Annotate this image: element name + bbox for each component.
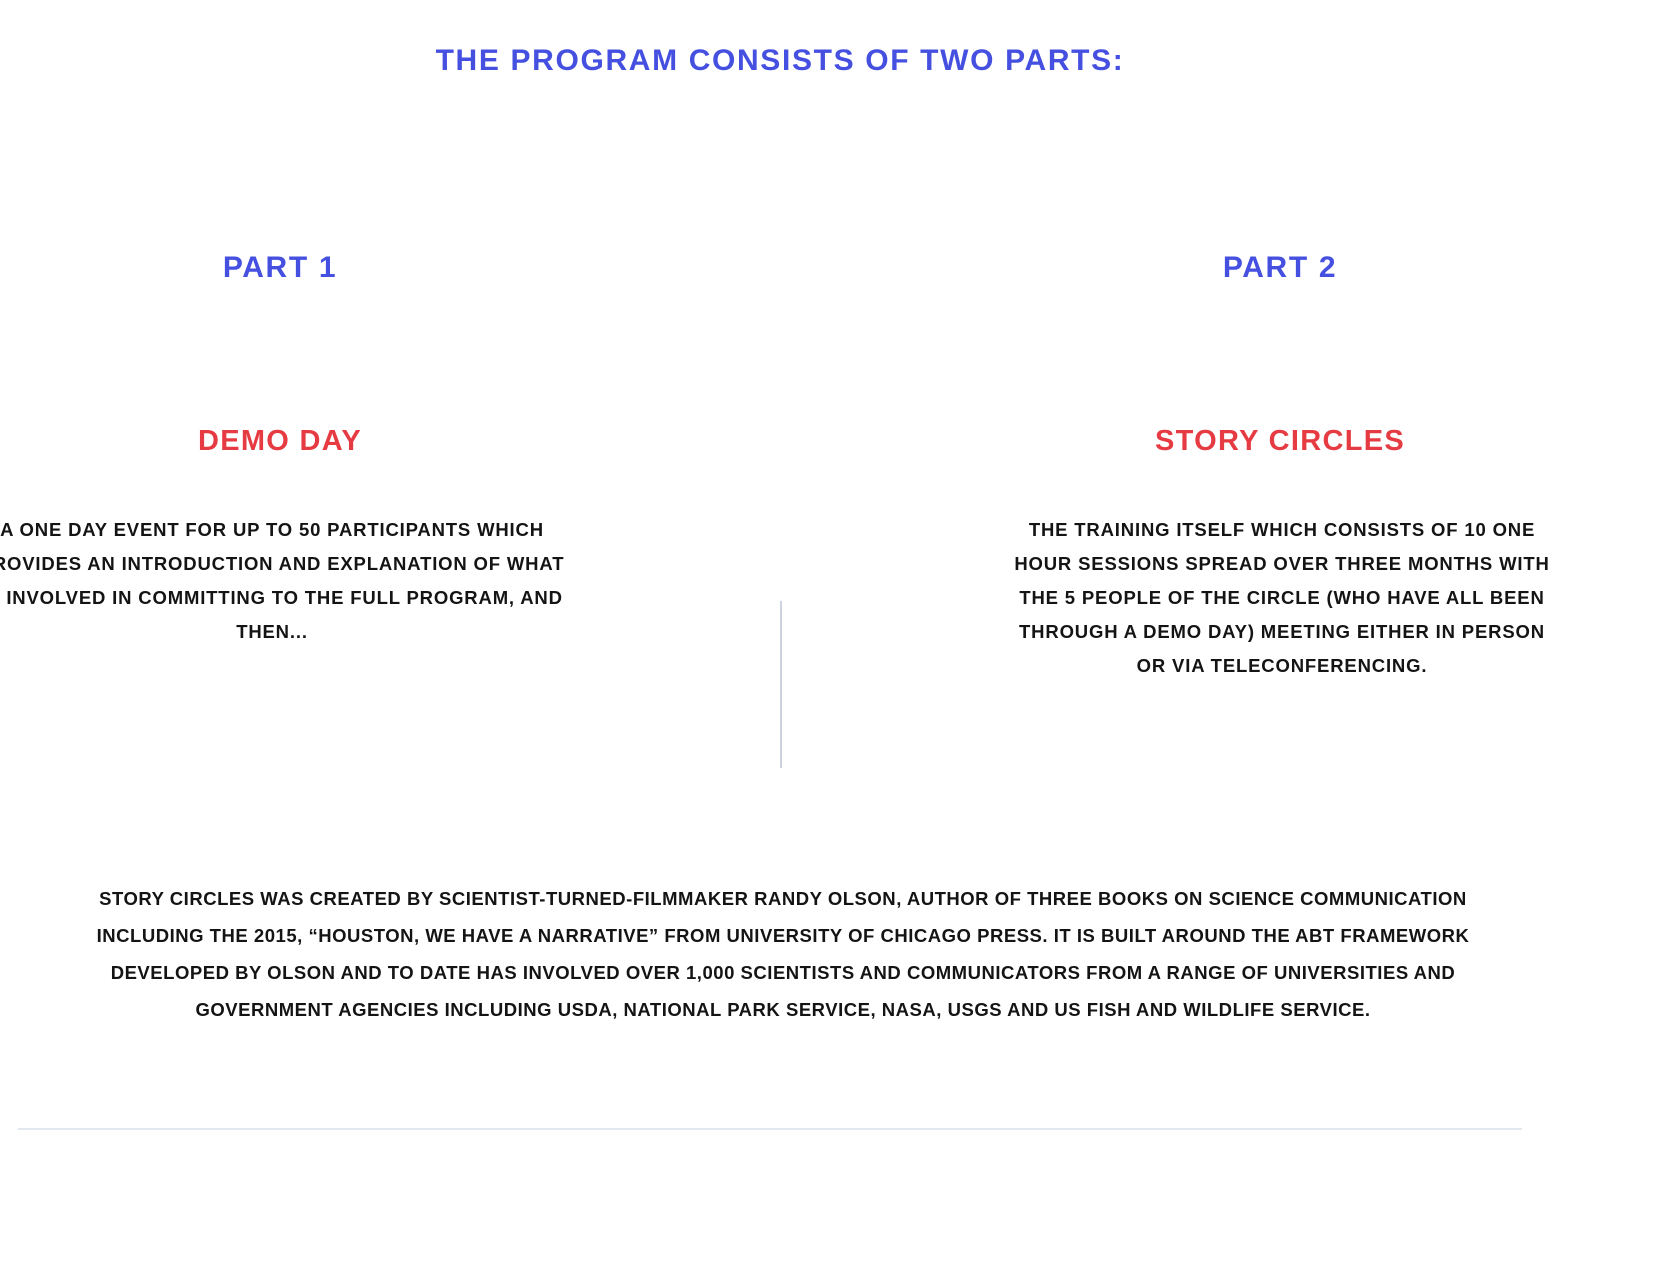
part-1-description: A ONE DAY EVENT FOR UP TO 50 PARTICIPANT… [0, 513, 572, 649]
about-story-circles-paragraph: STORY CIRCLES WAS CREATED BY SCIENTIST-T… [44, 880, 1522, 1028]
page-title: THE PROGRAM CONSISTS OF TWO PARTS: [0, 44, 1560, 78]
part-2-column: PART 2 STORY CIRCLES THE TRAINING ITSELF… [1000, 250, 1560, 683]
part-2-description: THE TRAINING ITSELF WHICH CONSISTS OF 10… [1012, 513, 1552, 683]
part-1-label: PART 1 [0, 250, 560, 286]
part-1-title: DEMO DAY [0, 424, 560, 459]
part-1-column: PART 1 DEMO DAY A ONE DAY EVENT FOR UP T… [0, 250, 560, 649]
vertical-divider [780, 601, 782, 768]
part-2-label: PART 2 [1000, 250, 1560, 286]
horizontal-rule [18, 1128, 1522, 1130]
part-2-title: STORY CIRCLES [1000, 424, 1560, 459]
